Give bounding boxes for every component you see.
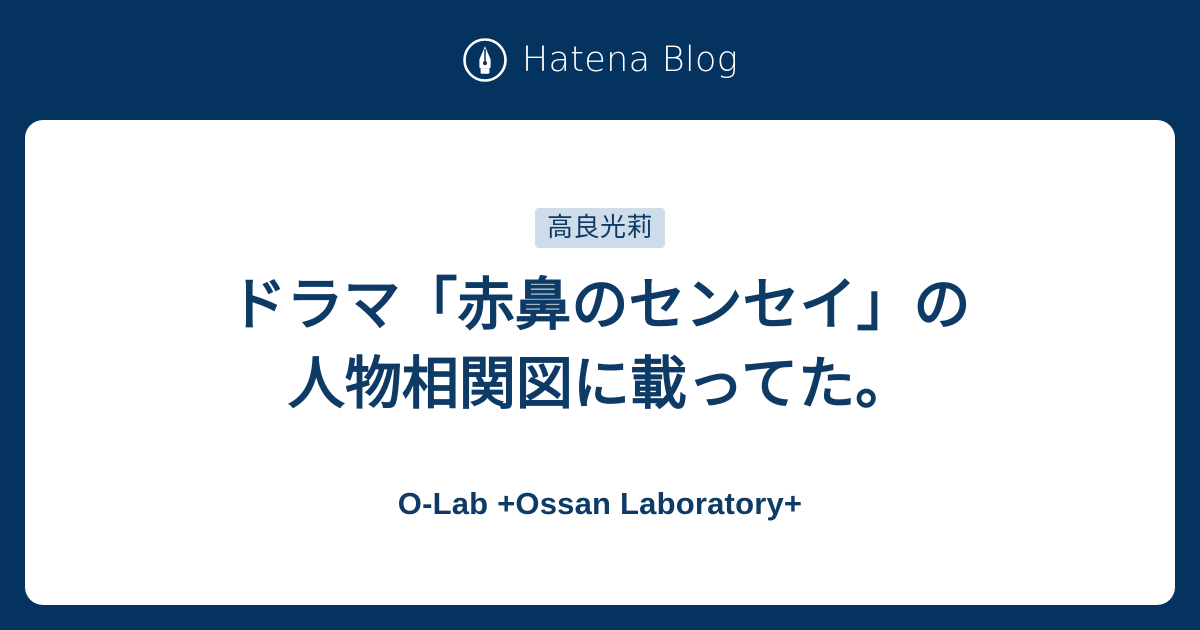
category-badge[interactable]: 高良光莉 (535, 208, 665, 248)
entry-card-body: 高良光莉 ドラマ「赤鼻のセンセイ」の 人物相関図に載ってた。 O-Lab +Os… (85, 208, 1115, 523)
entry-title: ドラマ「赤鼻のセンセイ」の 人物相関図に載ってた。 (230, 266, 971, 423)
hatena-blog-header: Hatena Blog (0, 0, 1200, 120)
entry-title-line-1: ドラマ「赤鼻のセンセイ」の (230, 266, 971, 345)
hatena-pen-nib-icon (462, 37, 508, 83)
entry-title-line-2: 人物相関図に載ってた。 (230, 345, 971, 424)
entry-card: 高良光莉 ドラマ「赤鼻のセンセイ」の 人物相関図に載ってた。 O-Lab +Os… (25, 120, 1175, 605)
hatena-blog-brand-name: Hatena Blog (522, 43, 738, 78)
blog-name: O-Lab +Ossan Laboratory+ (398, 485, 802, 522)
